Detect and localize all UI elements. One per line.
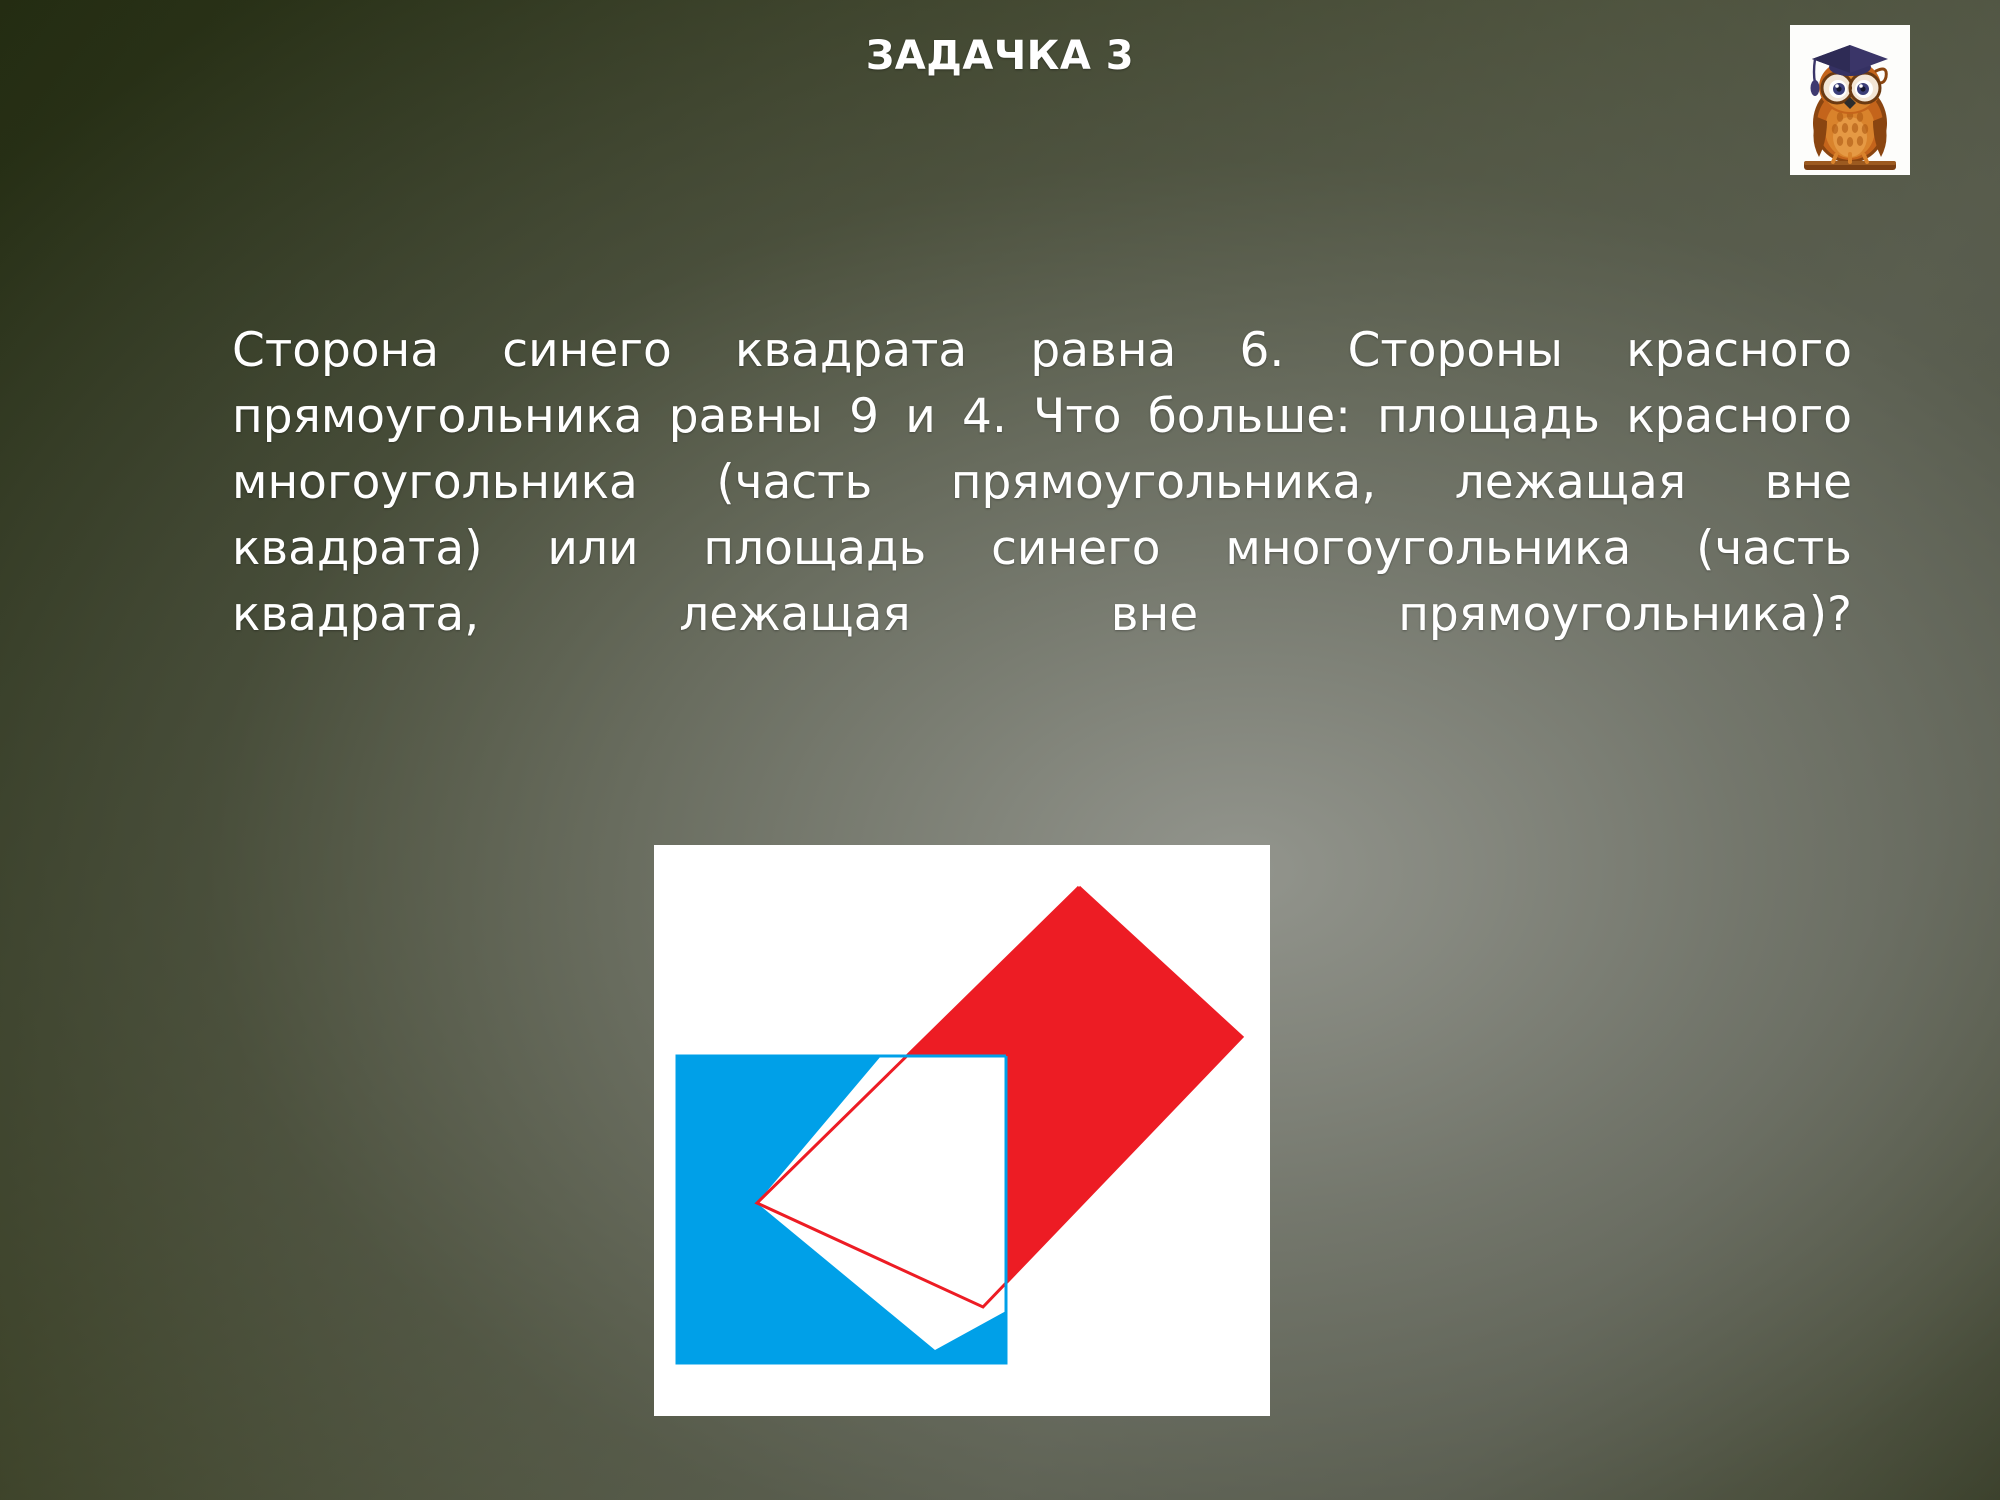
owl-graduate-icon [1790, 25, 1910, 175]
geometry-figure [654, 845, 1270, 1416]
page-title: ЗАДАЧКА 3 [0, 33, 2000, 79]
problem-statement: Сторона синего квадрата равна 6. Стороны… [232, 318, 1852, 714]
slide-canvas: ЗАДАЧКА 3 [0, 0, 2000, 1500]
